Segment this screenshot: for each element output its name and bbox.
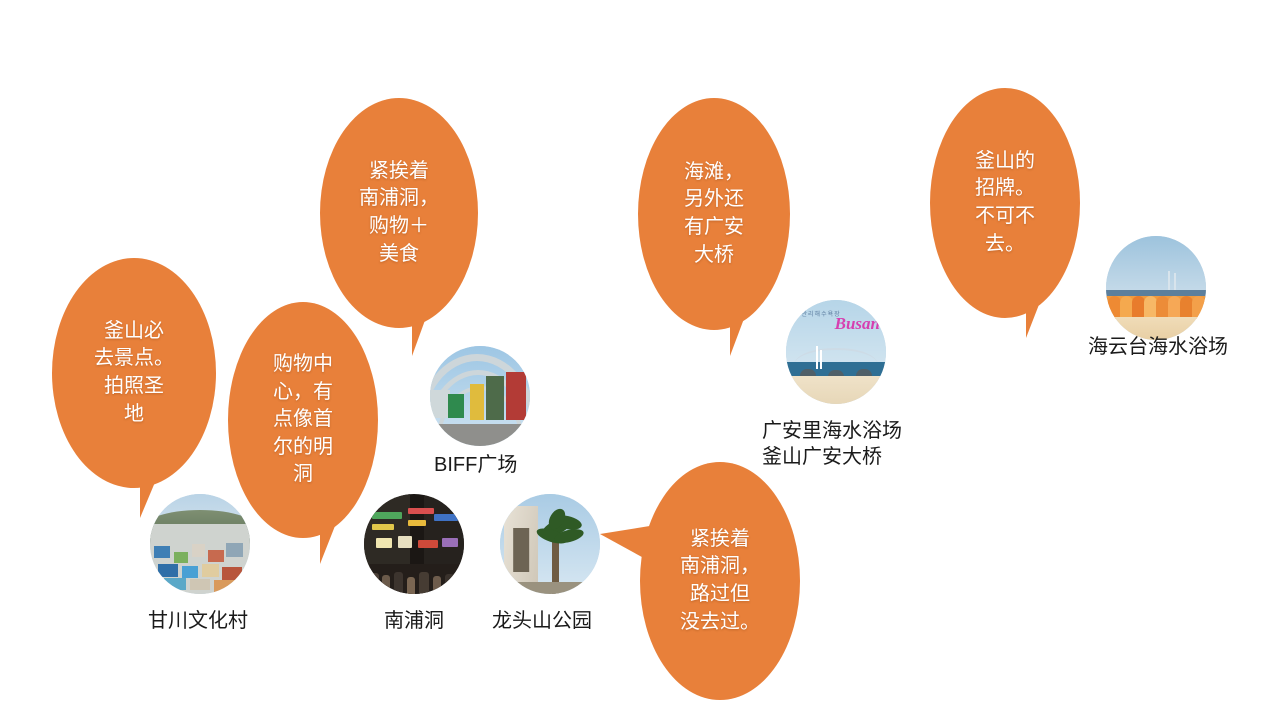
yongdusan-monument-image bbox=[500, 494, 600, 594]
caption-haeundae: 海云台海水浴场 bbox=[1088, 334, 1228, 360]
photo-yongdusan[interactable] bbox=[500, 494, 600, 594]
photo-nampo[interactable] bbox=[364, 494, 464, 594]
bubble-tail-gwangalli bbox=[730, 292, 762, 356]
photo-overlay-text: Busan bbox=[835, 314, 880, 334]
speech-bubble-gamcheon-text: 釜山必 去景点。 拍照圣 地 bbox=[88, 318, 180, 428]
speech-bubble-nampo[interactable]: 购物中 心，有 点像首 尔的明 洞 bbox=[228, 302, 378, 538]
caption-gwangalli: 广安里海水浴场 釜山广安大桥 bbox=[762, 418, 902, 471]
bubble-tail-gamcheon bbox=[140, 456, 172, 518]
speech-bubble-yongdusan[interactable]: 紧挨着 南浦洞， 路过但 没去过。 bbox=[640, 462, 800, 700]
speech-bubble-biff[interactable]: 紧挨着 南浦洞， 购物＋ 美食 bbox=[320, 98, 478, 328]
caption-nampo: 南浦洞 bbox=[384, 608, 444, 634]
caption-biff: BIFF广场 bbox=[434, 452, 517, 478]
photo-biff[interactable] bbox=[430, 346, 530, 446]
biff-square-arch-image bbox=[430, 346, 530, 446]
photo-haeundae[interactable] bbox=[1106, 236, 1206, 340]
haeundae-beach-image bbox=[1106, 236, 1206, 340]
bubble-tail-haeundae bbox=[1026, 266, 1060, 338]
caption-gamcheon: 甘川文化村 bbox=[148, 608, 248, 634]
speech-bubble-nampo-text: 购物中 心，有 点像首 尔的明 洞 bbox=[267, 351, 339, 489]
photo-gwangalli[interactable]: 광안리해수욕장 Busan bbox=[786, 300, 886, 404]
bubble-tail-nampo bbox=[320, 498, 354, 564]
gwangalli-beach-image: 광안리해수욕장 Busan bbox=[786, 300, 886, 404]
bubble-tail-yongdusan bbox=[600, 524, 662, 568]
speech-bubble-haeundae-text: 釜山的 招牌。 不可不 去。 bbox=[969, 148, 1041, 258]
speech-bubble-gwangalli-text: 海滩， 另外还 有广安 大桥 bbox=[678, 159, 750, 269]
nampo-night-street-image bbox=[364, 494, 464, 594]
bubble-tail-biff bbox=[412, 290, 444, 356]
speech-bubble-gamcheon[interactable]: 釜山必 去景点。 拍照圣 地 bbox=[52, 258, 216, 488]
speech-bubble-biff-text: 紧挨着 南浦洞， 购物＋ 美食 bbox=[353, 158, 445, 268]
caption-yongdusan: 龙头山公园 bbox=[492, 608, 592, 634]
speech-bubble-yongdusan-text: 紧挨着 南浦洞， 路过但 没去过。 bbox=[674, 526, 766, 636]
speech-bubble-haeundae[interactable]: 釜山的 招牌。 不可不 去。 bbox=[930, 88, 1080, 318]
speech-bubble-gwangalli[interactable]: 海滩， 另外还 有广安 大桥 bbox=[638, 98, 790, 330]
